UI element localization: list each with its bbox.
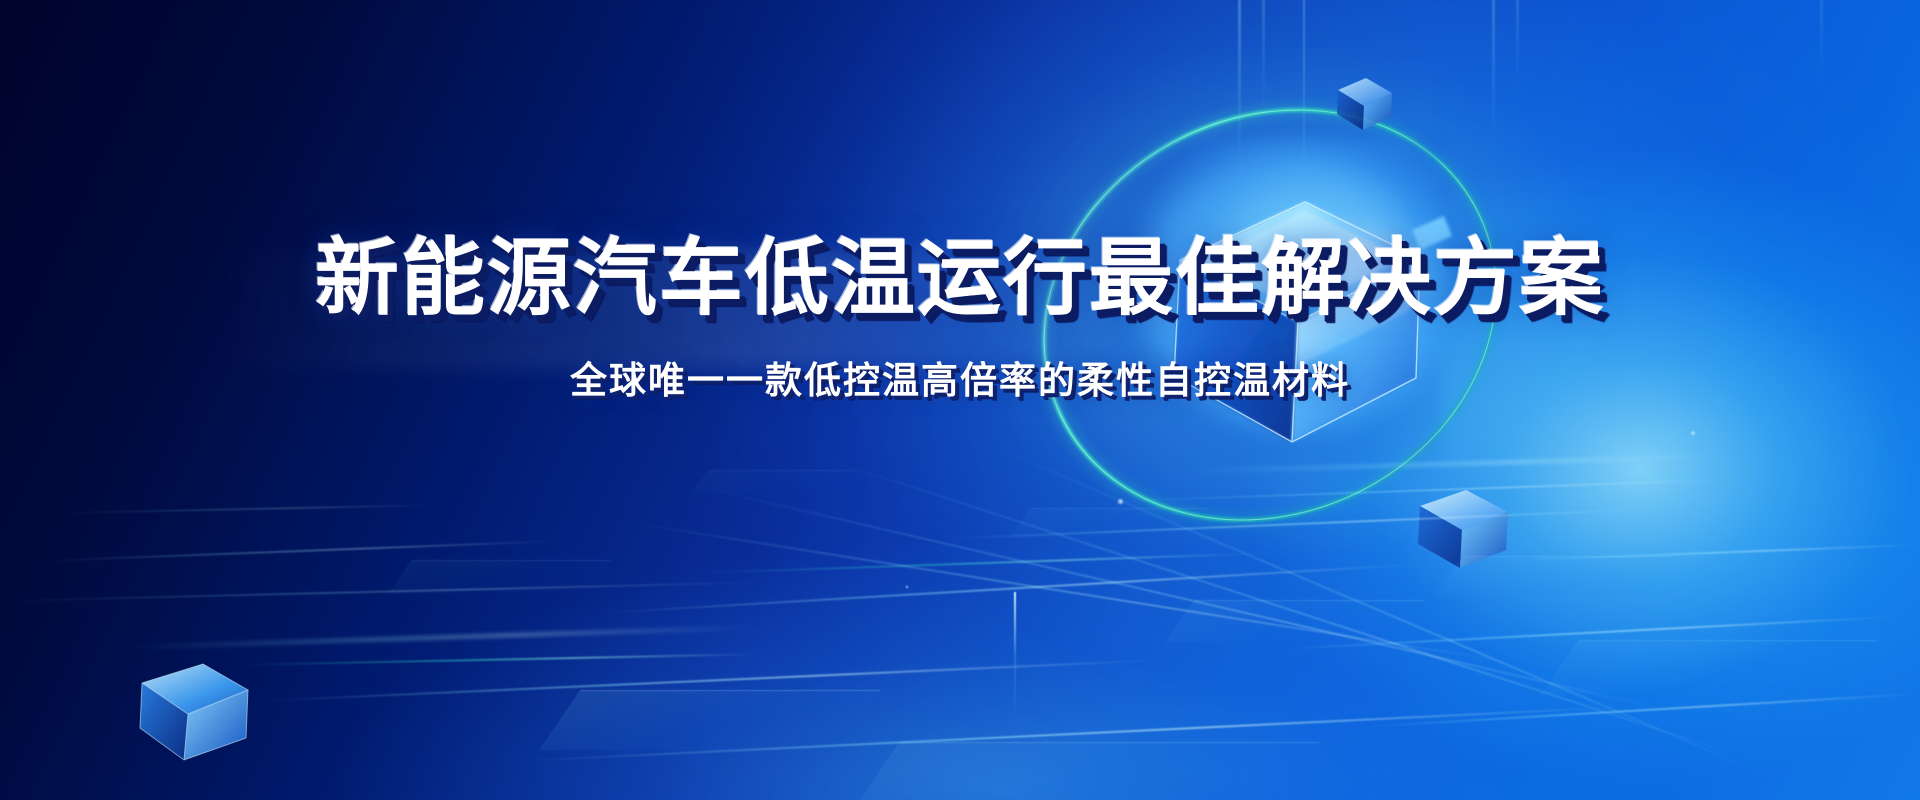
- floor-plate: [1166, 600, 1424, 642]
- floor-plate: [540, 690, 880, 750]
- light-streak: [240, 653, 760, 666]
- floor-spark-line: [1014, 592, 1016, 720]
- light-streak: [40, 540, 560, 562]
- light-streak: [120, 626, 760, 649]
- light-streak: [1120, 478, 1740, 502]
- page-subtitle: 全球唯一一款低控温高倍率的柔性自控温材料: [0, 350, 1920, 404]
- floor-plate: [1542, 640, 1878, 694]
- spark-icon: [905, 585, 909, 589]
- hero-banner: 新能源汽车低温运行最佳解决方案 全球唯一一款低控温高倍率的柔性自控温材料: [0, 0, 1920, 800]
- light-streak: [1180, 455, 1720, 473]
- hero-text-block: 新能源汽车低温运行最佳解决方案 全球唯一一款低控温高倍率的柔性自控温材料: [0, 236, 1920, 404]
- floor-plate: [860, 742, 1319, 800]
- light-streak: [1500, 544, 1920, 562]
- page-title: 新能源汽车低温运行最佳解决方案: [0, 236, 1920, 320]
- light-streak: [0, 581, 760, 602]
- spark-icon: [1690, 430, 1696, 436]
- perspective-ray: [820, 456, 1753, 761]
- spark-icon: [1117, 498, 1124, 505]
- floor-plate: [1437, 556, 1673, 594]
- light-streak: [60, 504, 440, 514]
